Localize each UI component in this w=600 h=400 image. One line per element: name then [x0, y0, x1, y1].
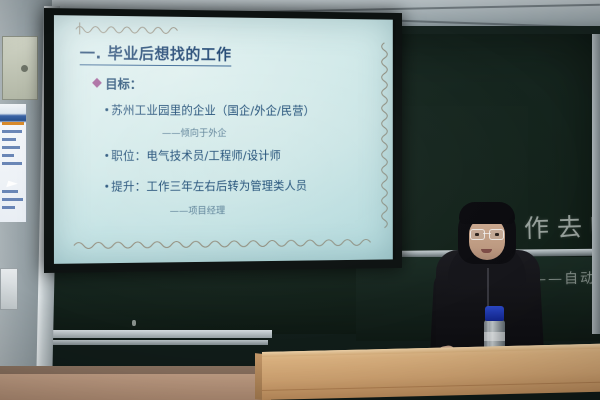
- notice-board: [0, 104, 27, 222]
- board-frame-right: [592, 34, 600, 334]
- glasses-icon: [470, 229, 504, 238]
- bottle-cap: [485, 306, 504, 321]
- wall-switch-box: [0, 268, 18, 310]
- projection-screen: 一. 毕业后想找的工作 目标： 苏州工业园里的企业（国企/外企/民营） ——倾向…: [44, 8, 402, 273]
- bottle-label: [484, 332, 505, 341]
- chalk-smudge: [132, 320, 136, 326]
- floor-shadow: [0, 366, 268, 374]
- presenter-fringe: [459, 202, 515, 224]
- podium: [262, 344, 600, 400]
- classroom-photo: 作去哪 ——自动化: [0, 0, 600, 400]
- wall-cabinet: [2, 36, 38, 100]
- screen-bezel: [44, 8, 402, 273]
- podium-front-line: [262, 381, 600, 391]
- poster-arrow-icon: [6, 181, 18, 191]
